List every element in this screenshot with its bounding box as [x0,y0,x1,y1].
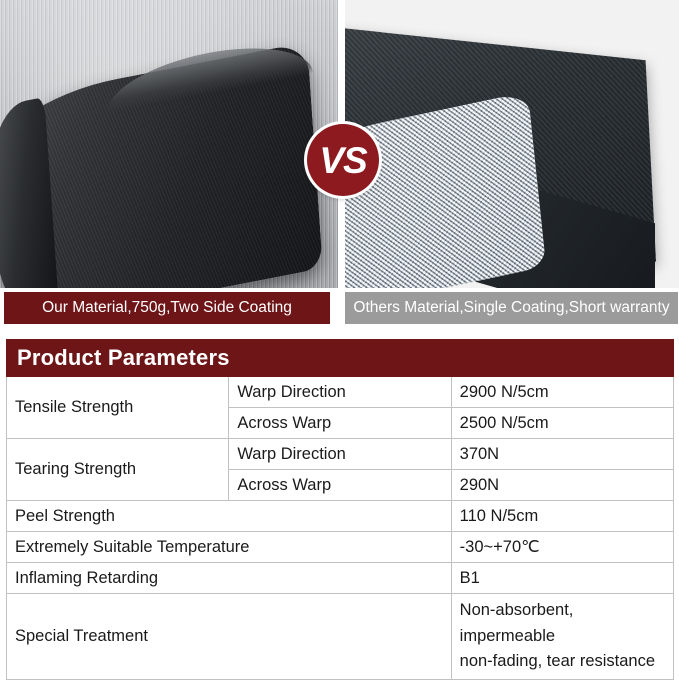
row-label-inflaming-retarding: Inflaming Retarding [7,563,452,594]
row-value-tearing-across: 290N [451,470,673,501]
special-treatment-line-1: Non-absorbent, impermeable [460,598,665,649]
row-value-inflaming-retarding: B1 [451,563,673,594]
row-label-tearing-strength: Tearing Strength [7,439,229,501]
row-value-tensile-warp: 2900 N/5cm [451,377,673,408]
row-value-peel-strength: 110 N/5cm [451,501,673,532]
vs-badge: VS [307,124,379,196]
row-sub-across-warp: Across Warp [229,470,451,501]
table-row: Tearing Strength Warp Direction 370N [7,439,674,470]
row-value-tearing-warp: 370N [451,439,673,470]
row-value-tensile-across: 2500 N/5cm [451,408,673,439]
table-row: Tensile Strength Warp Direction 2900 N/5… [7,377,674,408]
product-parameters-table: Product Parameters Tensile Strength Warp… [6,339,674,680]
table-row: Special Treatment Non-absorbent, imperme… [7,594,674,680]
table-row: Extremely Suitable Temperature -30~+70℃ [7,532,674,563]
row-sub-warp-direction: Warp Direction [229,377,451,408]
row-value-suitable-temperature: -30~+70℃ [451,532,673,563]
others-material-caption-text: Others Material,Single Coating,Short war… [353,299,669,317]
row-label-special-treatment: Special Treatment [7,594,452,680]
our-material-caption-text: Our Material,750g,Two Side Coating [42,299,292,317]
others-material-photo [345,0,679,288]
table-title: Product Parameters [17,345,230,370]
others-material-caption: Others Material,Single Coating,Short war… [345,292,678,324]
row-value-special-treatment: Non-absorbent, impermeable non-fading, t… [451,594,673,680]
our-material-caption: Our Material,750g,Two Side Coating [4,292,330,324]
vs-label: VS [319,142,366,179]
table-header-row: Product Parameters [7,340,674,377]
table-row: Inflaming Retarding B1 [7,563,674,594]
table-row: Peel Strength 110 N/5cm [7,501,674,532]
table-title-cell: Product Parameters [7,340,674,377]
our-material-photo [0,0,338,288]
row-label-suitable-temperature: Extremely Suitable Temperature [7,532,452,563]
row-label-peel-strength: Peel Strength [7,501,452,532]
comparison-section: VS Our Material,750g,Two Side Coating Ot… [0,0,679,330]
row-sub-warp-direction: Warp Direction [229,439,451,470]
row-sub-across-warp: Across Warp [229,408,451,439]
row-label-tensile-strength: Tensile Strength [7,377,229,439]
special-treatment-line-2: non-fading, tear resistance [460,649,665,675]
